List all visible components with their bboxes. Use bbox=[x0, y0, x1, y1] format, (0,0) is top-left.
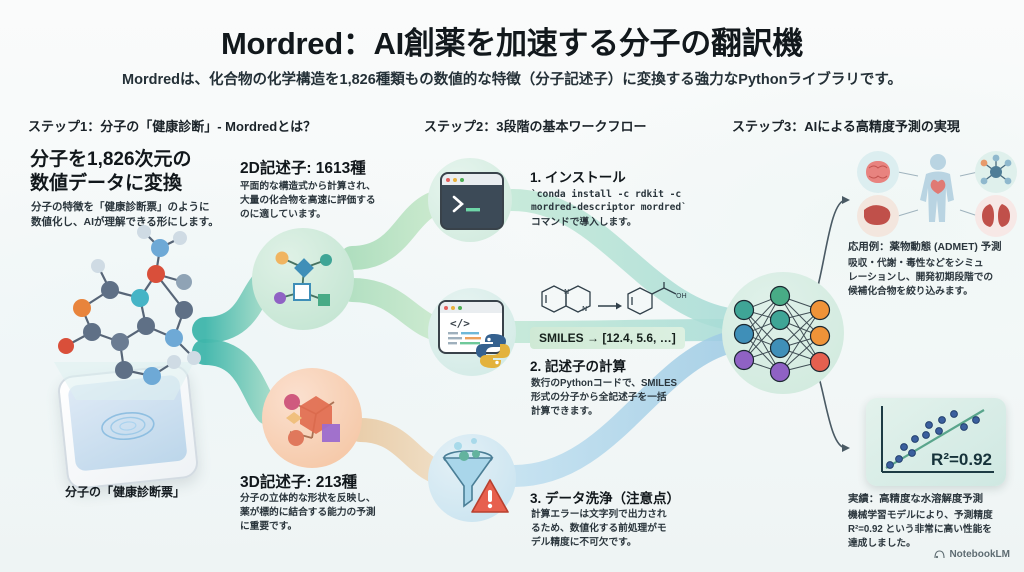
workflow-1-code: `conda install -c rdkit -c mordred-descr… bbox=[531, 188, 721, 215]
outcome-admet: 応用例：薬物動態 (ADMET) 予測 吸収・代謝・毒性などをシミュ レーション… bbox=[848, 240, 1024, 299]
terminal-dot-yellow bbox=[453, 178, 457, 182]
left-heading-line2: 数値データに変換 bbox=[30, 172, 230, 196]
smiles-pill: SMILES → [12.4, 5.6, …] bbox=[530, 327, 685, 349]
svg-text:OH: OH bbox=[676, 292, 687, 300]
descriptor-3d-body-line3: に重要です。 bbox=[240, 520, 420, 534]
code-dot-red bbox=[444, 306, 448, 310]
workflow-1-code-line2: mordred-descriptor mordred` bbox=[531, 201, 721, 214]
outcome-admet-body: 吸収・代謝・毒性などをシミュ レーションし、開発初期段階での 候補化合物を絞り込… bbox=[848, 257, 1024, 299]
descriptor-3d-body-line2: 薬が標的に結合する能力の予測 bbox=[240, 506, 420, 520]
code-dot-yellow bbox=[451, 306, 455, 310]
descriptor-3d-body: 分子の立体的な形状を反映し、 薬が標的に結合する能力の予測 に重要です。 bbox=[240, 492, 420, 534]
left-caption: 分子の「健康診断票」 bbox=[40, 483, 210, 500]
molecule-3d-icon bbox=[24, 212, 224, 402]
outcome-solubility-line1: 機械学習モデルにより、予測精度 bbox=[848, 509, 1024, 523]
infographic-canvas: Mordred：AI創薬を加速する分子の翻訳機 Mordredは、化合物の化学構… bbox=[0, 0, 1024, 572]
descriptor-3d-title: 3D記述子: 213種 bbox=[240, 470, 357, 492]
outcome-admet-line3: 候補化合物を絞り込みます。 bbox=[848, 285, 1024, 299]
terminal-icon bbox=[428, 158, 512, 242]
descriptor-2d-body-line2: 大量の化合物を高速に評価する bbox=[240, 194, 420, 208]
page-subtitle: Mordredは、化合物の化学構造を1,826種類もの数値的な特徴（分子記述子）… bbox=[0, 68, 1024, 89]
outcome-admet-line1: 吸収・代謝・毒性などをシミュ bbox=[848, 257, 1024, 271]
r2-label: R²=0.92 bbox=[931, 450, 992, 470]
step-header-3: ステップ3：AIによる高精度予測の実現 bbox=[732, 116, 960, 135]
workflow-1-body: コマンドで導入します。 bbox=[531, 216, 721, 230]
workflow-3-title: 3. データ洗浄（注意点） bbox=[530, 487, 680, 507]
workflow-1-code-line1: `conda install -c rdkit -c bbox=[531, 188, 721, 201]
workflow-2-body: 数行のPythonコードで、SMILES 形式の分子から全記述子を一括 計算でき… bbox=[531, 377, 721, 419]
svg-text:</>: </> bbox=[450, 317, 470, 330]
step-header-1: ステップ1：分子の「健康診断」- Mordredとは？ bbox=[28, 116, 316, 135]
terminal-dot-green bbox=[460, 178, 464, 182]
outcome-admet-line2: レーションし、開発初期段階での bbox=[848, 271, 1024, 285]
workflow-2-body-line1: 数行のPythonコードで、SMILES bbox=[531, 377, 721, 391]
workflow-3-body-line1: 計算エラーは文字列で出力され bbox=[531, 508, 726, 522]
watermark: NotebookLM bbox=[934, 549, 1010, 560]
outcome-solubility-line2: R²=0.92 という非常に高い性能を bbox=[848, 523, 1024, 537]
page-title: Mordred：AI創薬を加速する分子の翻訳機 bbox=[0, 18, 1024, 63]
workflow-2-body-line3: 計算できます。 bbox=[531, 405, 721, 419]
workflow-3-body: 計算エラーは文字列で出力され るため、数値化する前処理がモ デル精度に不可欠です… bbox=[531, 508, 726, 550]
step-header-2: ステップ2：3段階の基本ワークフロー bbox=[424, 116, 646, 135]
outcome-solubility-body: 機械学習モデルにより、予測精度 R²=0.92 という非常に高い性能を 達成しま… bbox=[848, 509, 1024, 551]
scatter-plot-icon: R²=0.92 bbox=[866, 398, 1006, 486]
descriptor-2d-title: 2D記述子: 1613種 bbox=[240, 156, 366, 178]
workflow-3-body-line2: るため、数値化する前処理がモ bbox=[531, 522, 726, 536]
python-logo-icon bbox=[472, 330, 514, 372]
flat-graph-icon bbox=[252, 228, 354, 330]
svg-text:N: N bbox=[564, 288, 569, 296]
admet-body-diagram bbox=[856, 146, 1018, 238]
terminal-dot-red bbox=[446, 178, 450, 182]
descriptor-3d-body-line1: 分子の立体的な形状を反映し、 bbox=[240, 492, 420, 506]
watermark-label: NotebookLM bbox=[949, 549, 1010, 560]
funnel-warning-icon bbox=[428, 434, 516, 522]
workflow-3-body-line3: デル精度に不可欠です。 bbox=[531, 536, 726, 550]
outcome-solubility-title: 実績：高精度な水溶解度予測 bbox=[848, 492, 1024, 507]
workflow-2-title: 2. 記述子の計算 bbox=[530, 355, 626, 375]
kidney-icon bbox=[975, 195, 1017, 237]
python-code-icon: </> bbox=[428, 288, 516, 376]
terminal-prompt-glyph bbox=[442, 185, 502, 225]
body-silhouette-icon bbox=[920, 154, 954, 222]
left-heading-line1: 分子を1,826次元の bbox=[30, 148, 230, 172]
outcome-admet-title: 応用例：薬物動態 (ADMET) 予測 bbox=[848, 240, 1024, 255]
scatter-plot-svg bbox=[866, 398, 1006, 486]
neural-network-icon bbox=[722, 272, 844, 394]
workflow-1-title: 1. インストール bbox=[530, 166, 626, 186]
descriptor-2d-body-line1: 平面的な構造式から計算され、 bbox=[240, 180, 420, 194]
volumetric-shape-icon bbox=[262, 368, 362, 468]
left-heading: 分子を1,826次元の 数値データに変換 bbox=[30, 148, 230, 197]
workflow-2-body-line2: 形式の分子から全記述子を一括 bbox=[531, 391, 721, 405]
outcome-solubility: 実績：高精度な水溶解度予測 機械学習モデルにより、予測精度 R²=0.92 とい… bbox=[848, 492, 1024, 551]
descriptor-2d-body: 平面的な構造式から計算され、 大量の化合物を高速に評価する のに適しています。 bbox=[240, 180, 420, 222]
descriptor-2d-body-line3: のに適しています。 bbox=[240, 208, 420, 222]
svg-text:N: N bbox=[582, 305, 587, 313]
notebooklm-icon bbox=[934, 549, 945, 560]
reaction-scheme-icon: N N OH bbox=[524, 282, 704, 328]
code-dot-green bbox=[458, 306, 462, 310]
